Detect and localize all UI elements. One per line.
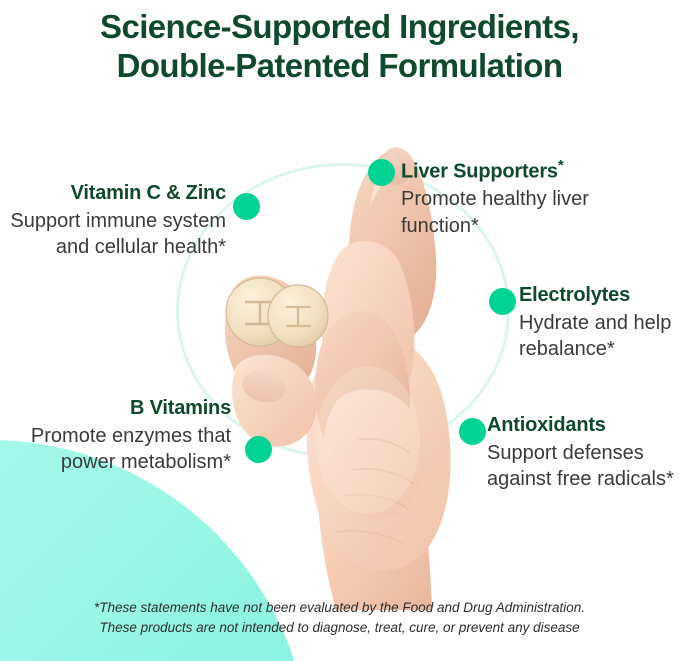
callout-body-electrolytes: Hydrate and help rebalance* bbox=[519, 310, 679, 364]
callout-body-b-vitamins: Promote enzymes that power metabolism* bbox=[8, 423, 231, 477]
page-title-line-2: Double-Patented Formulation bbox=[0, 47, 679, 86]
page-title: Science-Supported Ingredients, Double-Pa… bbox=[0, 8, 679, 85]
callout-vitamin-c-zinc: Vitamin C & Zinc Support immune system a… bbox=[0, 182, 226, 261]
disclaimer-line-2: These products are not intended to diagn… bbox=[0, 618, 679, 638]
callout-title-b-vitamins: B Vitamins bbox=[8, 397, 231, 421]
callout-title-electrolytes: Electrolytes bbox=[519, 284, 679, 308]
callout-electrolytes: Electrolytes Hydrate and help rebalance* bbox=[519, 284, 679, 363]
callout-body-liver-supporters: Promote healthy liver function* bbox=[401, 186, 671, 240]
callout-title-liver-supporters: Liver Supporters* bbox=[401, 157, 671, 184]
disclaimer-line-1: *These statements have not been evaluate… bbox=[0, 598, 679, 618]
page-title-line-1: Science-Supported Ingredients, bbox=[100, 8, 579, 45]
callout-antioxidants: Antioxidants Support defenses against fr… bbox=[487, 414, 679, 493]
callout-title-text-liver-supporters: Liver Supporters bbox=[401, 161, 558, 183]
callout-b-vitamins: B Vitamins Promote enzymes that power me… bbox=[8, 397, 231, 476]
callout-title-asterisk-liver-supporters: * bbox=[558, 157, 564, 174]
callout-liver-supporters: Liver Supporters* Promote healthy liver … bbox=[401, 157, 671, 240]
disclaimer: *These statements have not been evaluate… bbox=[0, 598, 679, 637]
bullet-dot-b-vitamins bbox=[245, 436, 272, 463]
callout-body-antioxidants: Support defenses against free radicals* bbox=[487, 440, 679, 494]
callout-title-antioxidants: Antioxidants bbox=[487, 414, 679, 438]
bullet-dot-antioxidants bbox=[459, 418, 486, 445]
tablets bbox=[226, 278, 328, 347]
bullet-dot-liver-supporters bbox=[368, 159, 395, 186]
bullet-dot-electrolytes bbox=[489, 288, 516, 315]
callout-title-vitamin-c-zinc: Vitamin C & Zinc bbox=[0, 182, 226, 206]
infographic-canvas: Science-Supported Ingredients, Double-Pa… bbox=[0, 0, 679, 661]
callout-body-vitamin-c-zinc: Support immune system and cellular healt… bbox=[0, 208, 226, 262]
bullet-dot-vitamin-c-zinc bbox=[233, 193, 260, 220]
